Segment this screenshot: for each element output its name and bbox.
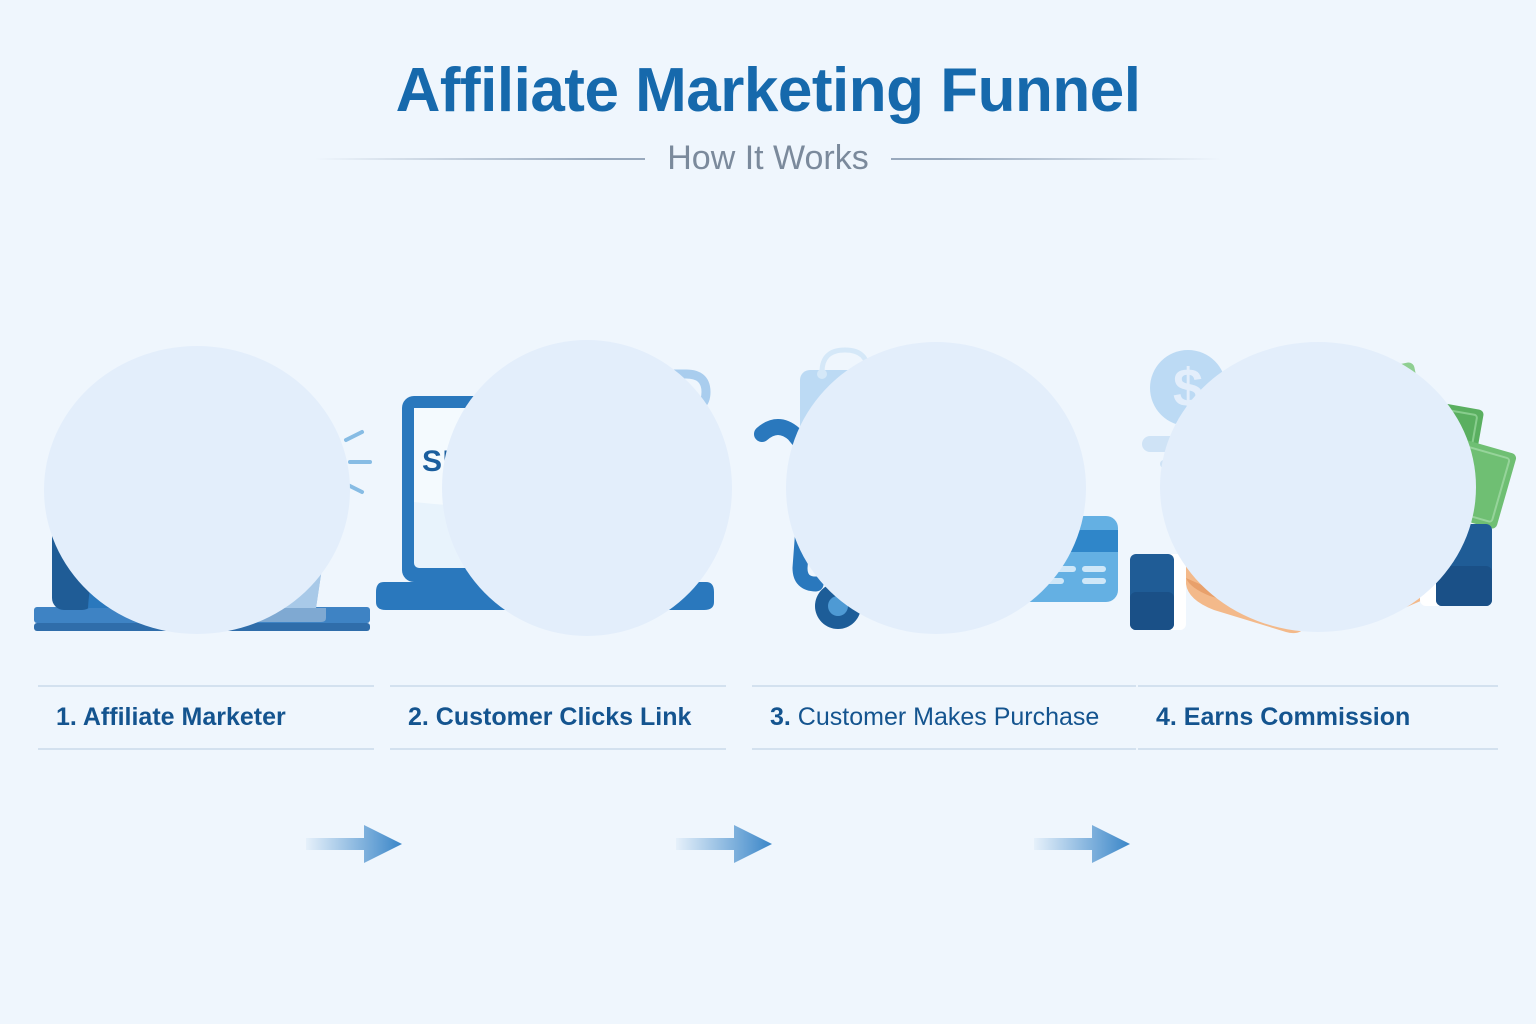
caption-rule-bottom (1138, 748, 1498, 750)
step-3-text: Customer Makes Purchase (791, 703, 1099, 731)
step-4-blob (1160, 342, 1476, 632)
header: Affiliate Marketing Funnel How It Works (0, 0, 1536, 178)
flow-arrow-2 (676, 825, 772, 863)
step-3-caption: 3. Customer Makes Purchase (752, 685, 1136, 750)
step-4-illustration: $ (1130, 330, 1520, 660)
subtitle-rule-left (315, 158, 645, 160)
infographic-page: Affiliate Marketing Funnel How It Works (0, 0, 1536, 1024)
page-subtitle: How It Works (667, 139, 869, 178)
step-3-illustration (744, 330, 1144, 660)
step-1-caption: 1. Affiliate Marketer (38, 685, 374, 750)
step-1-affiliate-marketer[interactable]: 1. Affiliate Marketer (30, 330, 382, 750)
caption-rule-bottom (752, 748, 1136, 750)
steps-row: 1. Affiliate Marketer (0, 330, 1536, 750)
step-4-earns-commission[interactable]: $ (1130, 330, 1520, 750)
step-2-illustration: SPECIAL OFFER BUY NOW (382, 330, 734, 660)
step-3-label: 3. Customer Makes Purchase (752, 687, 1136, 748)
step-1-blob (44, 346, 350, 634)
caption-rule-bottom (390, 748, 726, 750)
caption-rule-bottom (38, 748, 374, 750)
step-3-customer-makes-purchase[interactable]: 3. Customer Makes Purchase (744, 330, 1144, 750)
step-2-customer-clicks-link[interactable]: SPECIAL OFFER BUY NOW 2. Custo (382, 330, 734, 750)
step-1-illustration (30, 330, 382, 660)
subtitle-row: How It Works (0, 139, 1536, 178)
flow-arrow-1 (306, 825, 402, 863)
page-title: Affiliate Marketing Funnel (0, 58, 1536, 123)
step-2-label: 2. Customer Clicks Link (390, 687, 726, 748)
step-4-label: 4. Earns Commission (1138, 687, 1498, 748)
step-2-caption: 2. Customer Clicks Link (390, 685, 726, 750)
flow-arrow-3 (1034, 825, 1130, 863)
step-2-blob (442, 340, 732, 636)
step-1-label: 1. Affiliate Marketer (38, 687, 374, 748)
step-3-number: 3. (770, 703, 791, 731)
subtitle-rule-right (891, 158, 1221, 160)
step-4-caption: 4. Earns Commission (1138, 685, 1498, 750)
step-3-blob (786, 342, 1086, 634)
